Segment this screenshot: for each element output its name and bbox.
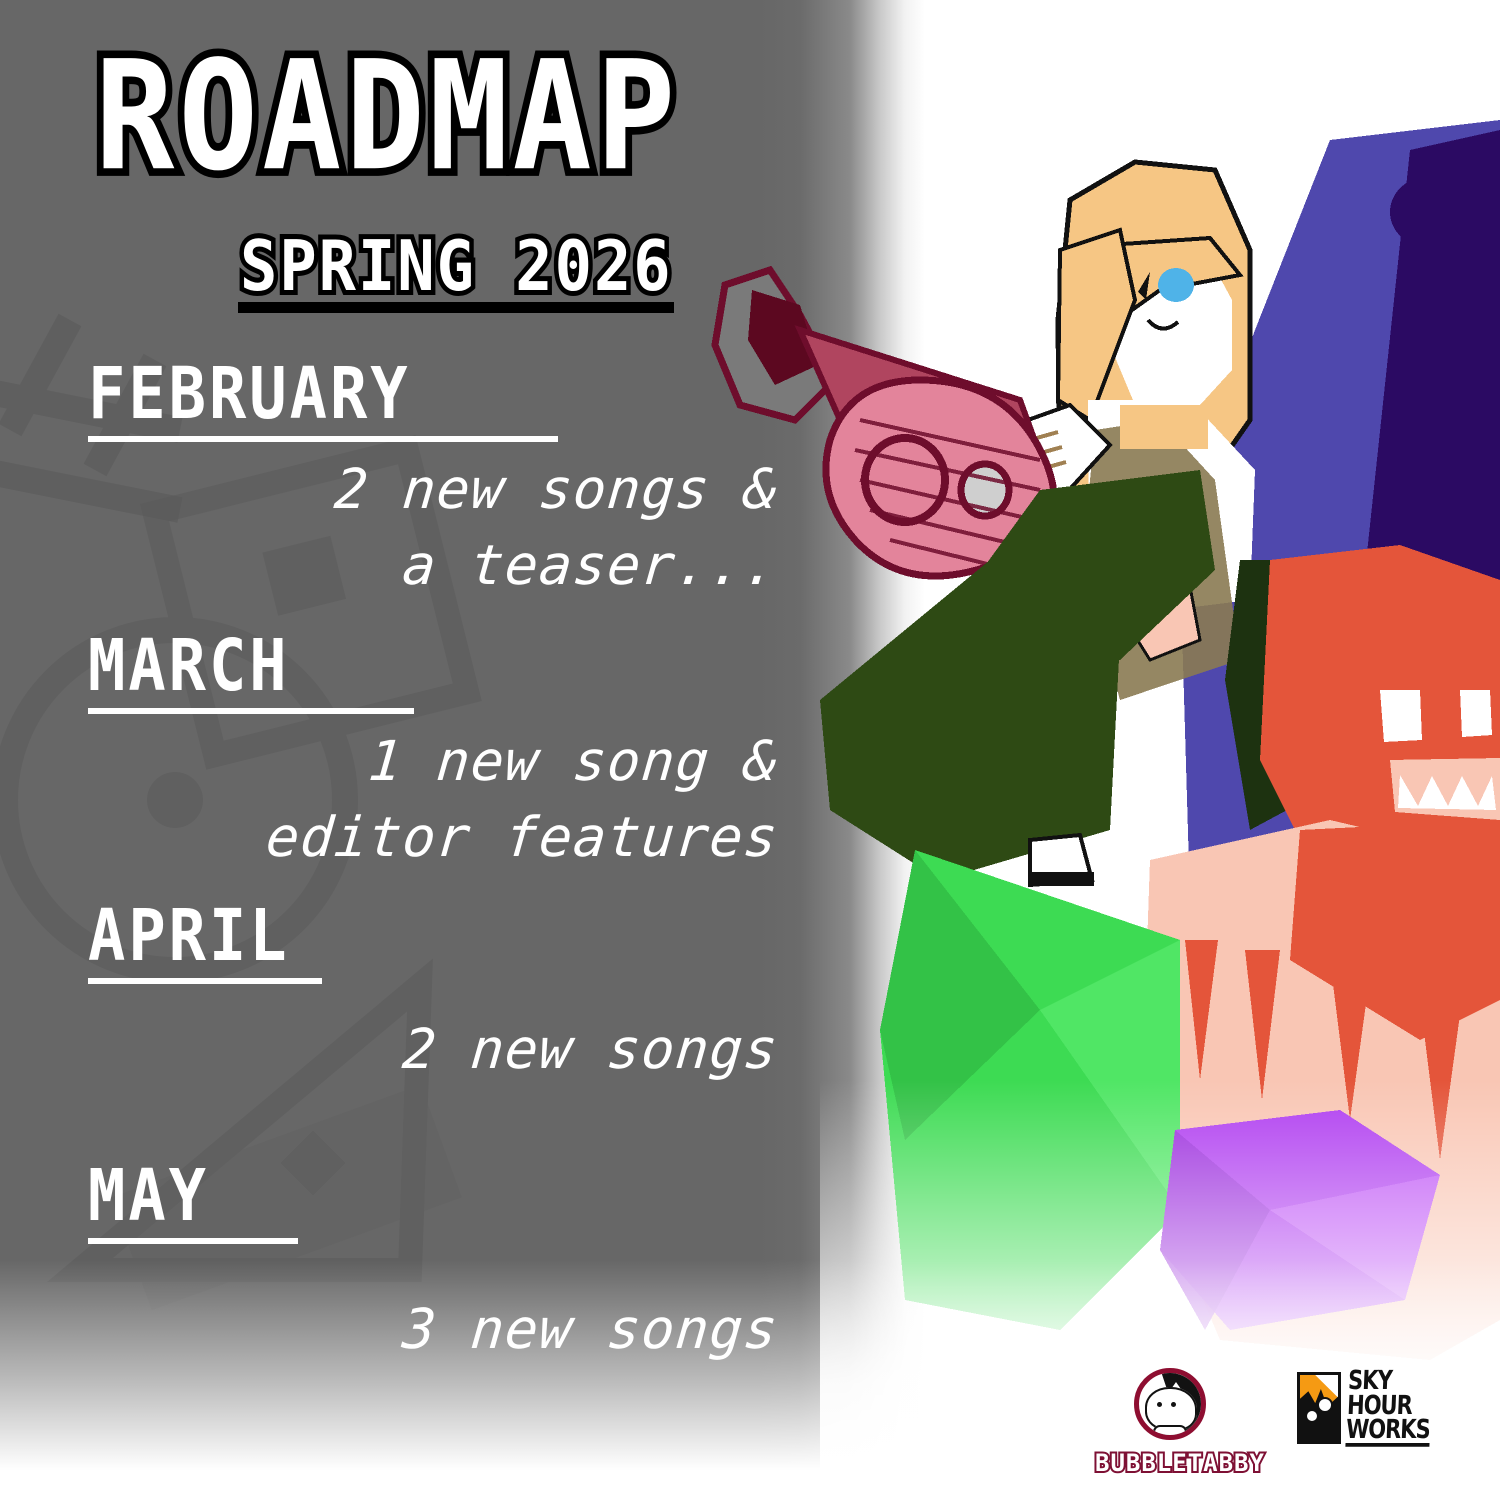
page-title: ROADMAP: [95, 42, 679, 193]
month-underline-march: [88, 708, 414, 714]
month-name-february: FEBRUARY: [88, 358, 411, 429]
month-block-february: FEBRUARY 2 new songs & a teaser...: [0, 358, 800, 604]
month-details-may: 3 new songs: [0, 1292, 800, 1368]
skyhourworks-line-3: WORKS: [1345, 1418, 1430, 1446]
skyhourworks-logo[interactable]: SKY HOUR WORKS: [1297, 1372, 1431, 1444]
month-block-march: MARCH 1 new song & editor features: [0, 630, 800, 876]
detail-line: 2 new songs: [0, 1012, 781, 1088]
month-details-march: 1 new song & editor features: [0, 724, 800, 876]
sneaker-detail: [1028, 835, 1094, 886]
roadmap-text-column: ROADMAP SPRING 2026 FEBRUARY 2 new songs…: [0, 0, 830, 1500]
month-details-february: 2 new songs & a teaser...: [0, 452, 800, 604]
detail-line: 1 new song &: [0, 724, 781, 800]
subtitle-underline: [238, 302, 674, 313]
detail-line: a teaser...: [0, 528, 781, 604]
footer-logos: BUBBLETABBY SKY HOUR WORKS: [1095, 1368, 1455, 1493]
subtitle-wrapper: SPRING 2026: [240, 232, 673, 294]
month-underline-april: [88, 978, 322, 984]
bubbletabby-label: BUBBLETABBY: [1095, 1449, 1245, 1477]
month-block-april: APRIL 2 new songs: [0, 900, 800, 1088]
month-details-april: 2 new songs: [0, 1012, 800, 1088]
month-underline-february: [88, 436, 558, 442]
month-name-march: MARCH: [88, 630, 290, 701]
title-wrapper: ROADMAP: [95, 42, 662, 170]
month-name-april: APRIL: [88, 900, 290, 971]
roadmap-poster: ROADMAP SPRING 2026 FEBRUARY 2 new songs…: [0, 0, 1500, 1500]
month-underline-may: [88, 1238, 298, 1244]
skyhourworks-wordmark: SKY HOUR WORKS: [1345, 1369, 1432, 1447]
detail-line: 3 new songs: [0, 1292, 781, 1368]
cat-in-circle-icon: [1134, 1368, 1206, 1440]
sky-hour-works-panel-icon: [1297, 1372, 1341, 1444]
page-subtitle: SPRING 2026: [240, 232, 673, 301]
detail-line: editor features: [0, 800, 781, 876]
detail-line: 2 new songs &: [0, 452, 781, 528]
bubbletabby-logo[interactable]: BUBBLETABBY: [1095, 1368, 1245, 1477]
month-block-may: MAY 3 new songs: [0, 1160, 800, 1368]
green-crystal-shape: [880, 850, 1180, 1330]
month-name-may: MAY: [88, 1160, 209, 1231]
